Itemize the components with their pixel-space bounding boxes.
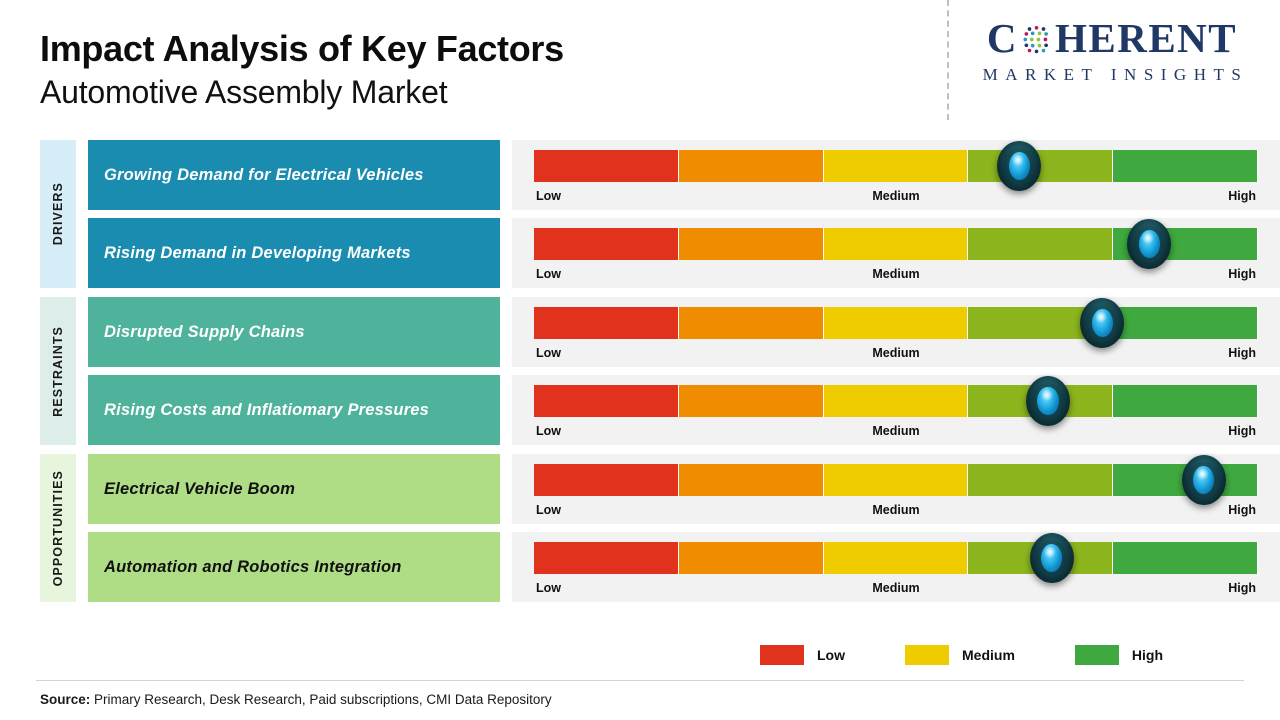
legend-item: Medium (905, 645, 1015, 665)
category-group: OPPORTUNITIESElectrical Vehicle BoomLowM… (0, 454, 1280, 602)
legend-label: High (1132, 647, 1163, 663)
source-text: Primary Research, Desk Research, Paid su… (90, 692, 551, 707)
logo-letters-herent: HERENT (1055, 18, 1237, 59)
company-logo: C HERENT MARKET INSIGHTS (962, 18, 1262, 85)
impact-gauge[interactable]: LowMediumHigh (512, 375, 1280, 445)
category-rows: Electrical Vehicle BoomLowMediumHighAuto… (88, 454, 1280, 602)
gauge-segment-4 (968, 307, 1113, 339)
gauge-tick-medium: Medium (872, 581, 919, 595)
gauge-segment-3 (824, 464, 969, 496)
gauge-tick-medium: Medium (872, 267, 919, 281)
gauge-tick-high: High (1228, 189, 1256, 203)
legend-swatch (905, 645, 949, 665)
category-label-text: OPPORTUNITIES (51, 470, 65, 586)
logo-tagline: MARKET INSIGHTS (962, 65, 1262, 85)
source-label: Source: (40, 692, 90, 707)
factor-label[interactable]: Electrical Vehicle Boom (88, 454, 500, 524)
gauge-segment-1 (534, 464, 679, 496)
gauge-segment-2 (679, 228, 824, 260)
page-subtitle: Automotive Assembly Market (40, 72, 564, 112)
gauge-scale: LowMediumHigh (534, 262, 1258, 290)
category-label-opportunities: OPPORTUNITIES (40, 454, 76, 602)
gauge-segment-4 (968, 228, 1113, 260)
gauge-segment-5 (1113, 228, 1258, 260)
impact-gauge[interactable]: LowMediumHigh (512, 218, 1280, 288)
globe-sphere-icon (1019, 22, 1054, 57)
page-title-block: Impact Analysis of Key Factors Automotiv… (40, 28, 564, 112)
impact-matrix: DRIVERSGrowing Demand for Electrical Veh… (0, 140, 1280, 611)
gauge-tick-low: Low (536, 346, 561, 360)
factor-row: Rising Costs and Inflatiomary PressuresL… (88, 375, 1280, 445)
gauge-tick-medium: Medium (872, 346, 919, 360)
gauge-tick-low: Low (536, 503, 561, 517)
factor-row: Automation and Robotics IntegrationLowMe… (88, 532, 1280, 602)
gauge-bar (534, 307, 1258, 339)
page-title: Impact Analysis of Key Factors (40, 28, 564, 69)
factor-label-text: Growing Demand for Electrical Vehicles (104, 166, 424, 185)
impact-gauge[interactable]: LowMediumHigh (512, 454, 1280, 524)
gauge-tick-medium: Medium (872, 189, 919, 203)
logo-wordmark: C HERENT (962, 18, 1262, 59)
factor-label-text: Rising Costs and Inflatiomary Pressures (104, 401, 429, 420)
gauge-segment-1 (534, 150, 679, 182)
gauge-segment-3 (824, 150, 969, 182)
gauge-tick-medium: Medium (872, 424, 919, 438)
category-group: RESTRAINTSDisrupted Supply ChainsLowMedi… (0, 297, 1280, 445)
gauge-segment-2 (679, 542, 824, 574)
factor-label[interactable]: Rising Demand in Developing Markets (88, 218, 500, 288)
gauge-bar (534, 542, 1258, 574)
gauge-segment-2 (679, 307, 824, 339)
factor-label-text: Automation and Robotics Integration (104, 558, 402, 577)
factor-row: Rising Demand in Developing MarketsLowMe… (88, 218, 1280, 288)
gauge-segment-4 (968, 464, 1113, 496)
factor-row: Electrical Vehicle BoomLowMediumHigh (88, 454, 1280, 524)
gauge-bar (534, 464, 1258, 496)
gauge-tick-high: High (1228, 267, 1256, 281)
category-rows: Growing Demand for Electrical VehiclesLo… (88, 140, 1280, 288)
gauge-tick-low: Low (536, 189, 561, 203)
gauge-segment-1 (534, 385, 679, 417)
gauge-tick-high: High (1228, 346, 1256, 360)
gauge-segment-3 (824, 542, 969, 574)
gauge-segment-2 (679, 385, 824, 417)
gauge-scale: LowMediumHigh (534, 184, 1258, 212)
category-label-restraints: RESTRAINTS (40, 297, 76, 445)
footer-divider (36, 680, 1244, 681)
gauge-bar (534, 228, 1258, 260)
gauge-tick-high: High (1228, 581, 1256, 595)
factor-row: Growing Demand for Electrical VehiclesLo… (88, 140, 1280, 210)
factor-row: Disrupted Supply ChainsLowMediumHigh (88, 297, 1280, 367)
gauge-bar (534, 385, 1258, 417)
legend-swatch (1075, 645, 1119, 665)
gauge-segment-5 (1113, 464, 1258, 496)
gauge-scale: LowMediumHigh (534, 341, 1258, 369)
gauge-tick-high: High (1228, 424, 1256, 438)
gauge-segment-5 (1113, 307, 1258, 339)
gauge-segment-5 (1113, 385, 1258, 417)
gauge-tick-medium: Medium (872, 503, 919, 517)
gauge-segment-3 (824, 307, 969, 339)
gauge-segment-3 (824, 228, 969, 260)
factor-label-text: Disrupted Supply Chains (104, 323, 305, 342)
gauge-tick-low: Low (536, 581, 561, 595)
gauge-segment-1 (534, 307, 679, 339)
factor-label-text: Electrical Vehicle Boom (104, 480, 295, 499)
impact-legend: LowMediumHigh (760, 645, 1163, 665)
impact-gauge[interactable]: LowMediumHigh (512, 297, 1280, 367)
factor-label-text: Rising Demand in Developing Markets (104, 244, 411, 263)
gauge-bar (534, 150, 1258, 182)
gauge-segment-2 (679, 464, 824, 496)
factor-label[interactable]: Rising Costs and Inflatiomary Pressures (88, 375, 500, 445)
gauge-segment-1 (534, 542, 679, 574)
factor-label[interactable]: Automation and Robotics Integration (88, 532, 500, 602)
category-label-text: RESTRAINTS (51, 326, 65, 417)
legend-item: High (1075, 645, 1163, 665)
gauge-segment-4 (968, 542, 1113, 574)
impact-gauge[interactable]: LowMediumHigh (512, 140, 1280, 210)
legend-label: Medium (962, 647, 1015, 663)
legend-swatch (760, 645, 804, 665)
category-label-text: DRIVERS (51, 182, 65, 245)
infographic-page: Impact Analysis of Key Factors Automotiv… (0, 0, 1280, 720)
gauge-tick-high: High (1228, 503, 1256, 517)
gauge-segment-5 (1113, 542, 1258, 574)
logo-letter-c: C (987, 18, 1018, 59)
impact-gauge[interactable]: LowMediumHigh (512, 532, 1280, 602)
gauge-tick-low: Low (536, 267, 561, 281)
legend-item: Low (760, 645, 845, 665)
gauge-segment-1 (534, 228, 679, 260)
source-note: Source: Primary Research, Desk Research,… (40, 692, 552, 707)
gauge-scale: LowMediumHigh (534, 498, 1258, 526)
category-group: DRIVERSGrowing Demand for Electrical Veh… (0, 140, 1280, 288)
gauge-scale: LowMediumHigh (534, 576, 1258, 604)
gauge-tick-low: Low (536, 424, 561, 438)
gauge-segment-4 (968, 150, 1113, 182)
gauge-scale: LowMediumHigh (534, 419, 1258, 447)
gauge-segment-4 (968, 385, 1113, 417)
gauge-segment-3 (824, 385, 969, 417)
category-rows: Disrupted Supply ChainsLowMediumHighRisi… (88, 297, 1280, 445)
legend-label: Low (817, 647, 845, 663)
factor-label[interactable]: Growing Demand for Electrical Vehicles (88, 140, 500, 210)
factor-label[interactable]: Disrupted Supply Chains (88, 297, 500, 367)
gauge-segment-2 (679, 150, 824, 182)
logo-divider (947, 0, 949, 120)
gauge-segment-5 (1113, 150, 1258, 182)
category-label-drivers: DRIVERS (40, 140, 76, 288)
